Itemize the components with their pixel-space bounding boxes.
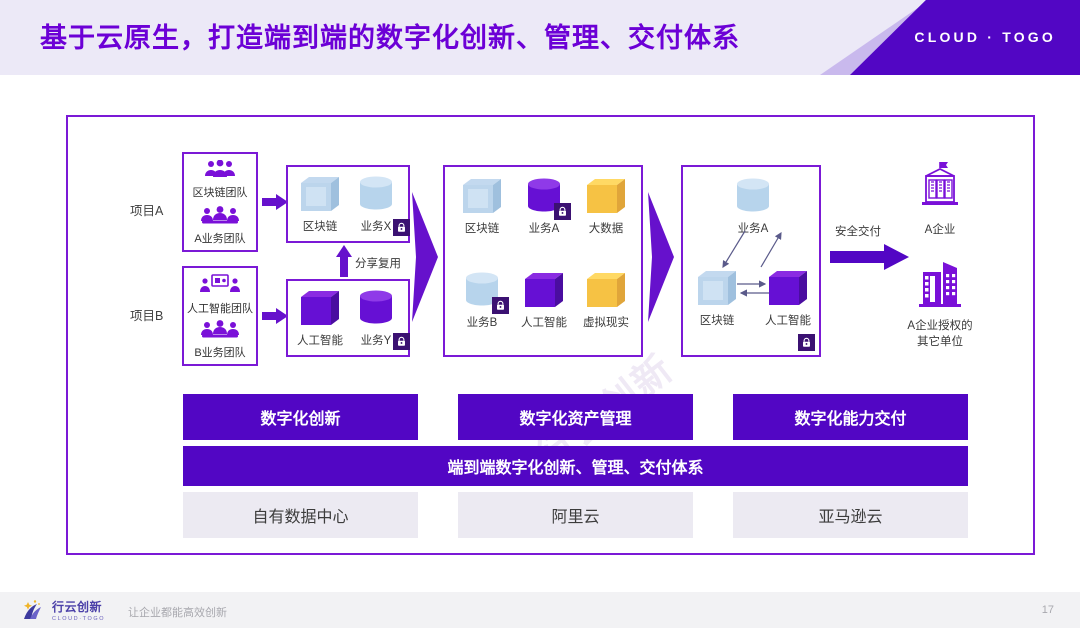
composition-panel[interactable]: 业务A 区块链 人 bbox=[681, 165, 821, 357]
delivery-label: 安全交付 bbox=[835, 223, 881, 239]
pool-item-4-label: 人工智能 bbox=[515, 314, 573, 330]
pool-item-0-label: 区块链 bbox=[453, 220, 511, 236]
company-name-en: CLOUD·TOGO bbox=[52, 616, 105, 622]
cube-dark-icon bbox=[767, 269, 809, 307]
team-box-b[interactable]: 人工智能团队 B业务团队 bbox=[182, 266, 258, 366]
footer-tagline: 让企业都能高效创新 bbox=[128, 604, 227, 620]
target-1-label-line1: A企业授权的 bbox=[890, 317, 990, 333]
capability-bar-0[interactable]: 数字化创新 bbox=[183, 394, 418, 440]
platform-bar[interactable]: 端到端数字化创新、管理、交付体系 bbox=[183, 446, 968, 486]
page-number: 17 bbox=[1042, 604, 1054, 616]
cube-dark-icon bbox=[523, 271, 565, 309]
asset-pool-panel[interactable]: 区块链 业务A 大数据 bbox=[443, 165, 643, 357]
brand-logo-text: CLOUD · TOGO bbox=[914, 29, 1056, 45]
cylinder-light-icon bbox=[355, 175, 397, 213]
team-box-a[interactable]: 区块链团队 A业务团队 bbox=[182, 152, 258, 252]
cube-light-icon bbox=[461, 177, 503, 215]
team-a-member-1: 区块链团队 bbox=[184, 184, 256, 200]
ai-team-icon bbox=[200, 274, 240, 294]
arrow-share-reuse bbox=[336, 245, 352, 277]
cylinder-dark-icon bbox=[355, 289, 397, 327]
target-authorized-units[interactable]: A企业授权的 其它单位 bbox=[890, 258, 990, 349]
buildings-icon bbox=[913, 258, 967, 310]
lock-icon bbox=[798, 334, 815, 351]
infrastructure-bar-1[interactable]: 阿里云 bbox=[458, 492, 693, 538]
project-a-asset-0-label: 区块链 bbox=[296, 218, 344, 234]
infrastructure-bar-0[interactable]: 自有数据中心 bbox=[183, 492, 418, 538]
company-logo-text: 行云创新 CLOUD·TOGO bbox=[52, 598, 105, 622]
pool-item-5-label: 虚拟现实 bbox=[577, 314, 635, 330]
cube-yellow-icon bbox=[585, 177, 627, 215]
people-meeting-icon bbox=[200, 320, 240, 338]
arrow-team-a-to-assets bbox=[262, 194, 288, 210]
chevron-arrow-1 bbox=[412, 192, 440, 322]
capability-bar-2[interactable]: 数字化能力交付 bbox=[733, 394, 968, 440]
pool-item-3-label: 业务B bbox=[453, 314, 511, 330]
composition-left-label: 区块链 bbox=[689, 312, 745, 328]
target-enterprise-a[interactable]: A企业 bbox=[890, 160, 990, 237]
row-label-project-a: 项目A bbox=[130, 200, 163, 219]
row-label-project-b: 项目B bbox=[130, 305, 163, 324]
lock-icon bbox=[554, 203, 571, 220]
pool-item-2-label: 大数据 bbox=[577, 220, 635, 236]
page-footer: 行云创新 CLOUD·TOGO 让企业都能高效创新 17 bbox=[0, 592, 1080, 628]
project-a-assets-panel[interactable]: 区块链 业务X bbox=[286, 165, 410, 243]
project-b-asset-0-label: 人工智能 bbox=[296, 332, 344, 348]
composition-right-label: 人工智能 bbox=[759, 312, 817, 328]
lock-icon bbox=[393, 219, 410, 236]
cylinder-light-icon bbox=[731, 177, 775, 215]
team-a-member-2: A业务团队 bbox=[184, 230, 256, 246]
project-b-assets-panel[interactable]: 人工智能 业务Y bbox=[286, 279, 410, 357]
infrastructure-bar-2[interactable]: 亚马逊云 bbox=[733, 492, 968, 538]
cube-light-icon bbox=[299, 175, 341, 213]
company-logo-mark bbox=[22, 599, 48, 621]
institution-icon bbox=[913, 160, 967, 214]
cube-yellow-icon bbox=[585, 271, 627, 309]
target-0-label: A企业 bbox=[890, 221, 990, 237]
lock-icon bbox=[492, 297, 509, 314]
target-1-label-line2: 其它单位 bbox=[890, 333, 990, 349]
team-b-member-1: 人工智能团队 bbox=[184, 300, 256, 316]
team-b-member-2: B业务团队 bbox=[184, 344, 256, 360]
cube-dark-icon bbox=[299, 289, 341, 327]
company-name-cn: 行云创新 bbox=[52, 598, 105, 615]
people-group-icon bbox=[203, 160, 237, 178]
pool-item-1-label: 业务A bbox=[515, 220, 573, 236]
cube-light-icon bbox=[696, 269, 738, 307]
share-reuse-label: 分享复用 bbox=[355, 255, 401, 271]
chevron-arrow-2 bbox=[648, 192, 676, 322]
capability-bar-1[interactable]: 数字化资产管理 bbox=[458, 394, 693, 440]
lock-icon bbox=[393, 333, 410, 350]
people-meeting-icon bbox=[200, 206, 240, 224]
page-title: 基于云原生，打造端到端的数字化创新、管理、交付体系 bbox=[40, 16, 740, 55]
page-header: 基于云原生，打造端到端的数字化创新、管理、交付体系 CLOUD · TOGO bbox=[0, 0, 1080, 75]
arrow-team-b-to-assets bbox=[262, 308, 288, 324]
